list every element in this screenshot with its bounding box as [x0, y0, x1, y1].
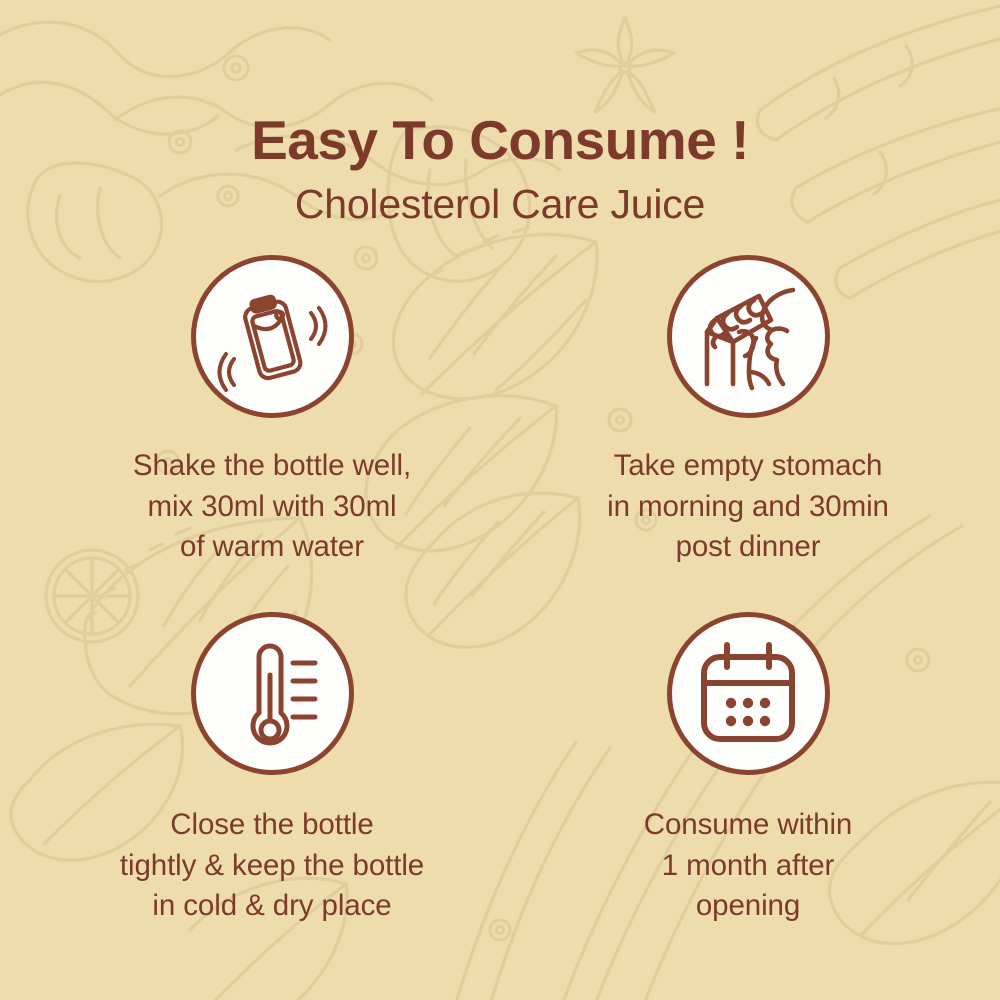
person-drinking-icon — [667, 255, 830, 418]
step-caption: Consume within 1 month after opening — [518, 805, 978, 927]
poster-content: Easy To Consume ! Cholesterol Care Juice — [0, 0, 1000, 1000]
shaking-bottle-icon — [191, 255, 354, 418]
calendar-icon — [667, 612, 830, 775]
step-card-consume-within: Consume within 1 month after opening — [518, 612, 978, 927]
step-caption: Take empty stomach in morning and 30min … — [518, 446, 978, 568]
poster-root: Easy To Consume ! Cholesterol Care Juice — [0, 0, 1000, 1000]
thermometer-icon — [191, 612, 354, 775]
page-title: Easy To Consume ! — [0, 112, 1000, 170]
step-card-empty-stomach: Take empty stomach in morning and 30min … — [518, 255, 978, 568]
step-card-store-cool-dry: Close the bottle tightly & keep the bott… — [42, 612, 502, 927]
step-caption: Close the bottle tightly & keep the bott… — [42, 805, 502, 927]
heading-block: Easy To Consume ! Cholesterol Care Juice — [0, 112, 1000, 229]
step-card-shake-bottle: Shake the bottle well, mix 30ml with 30m… — [42, 255, 502, 568]
step-caption: Shake the bottle well, mix 30ml with 30m… — [42, 446, 502, 568]
page-subtitle: Cholesterol Care Juice — [0, 180, 1000, 229]
